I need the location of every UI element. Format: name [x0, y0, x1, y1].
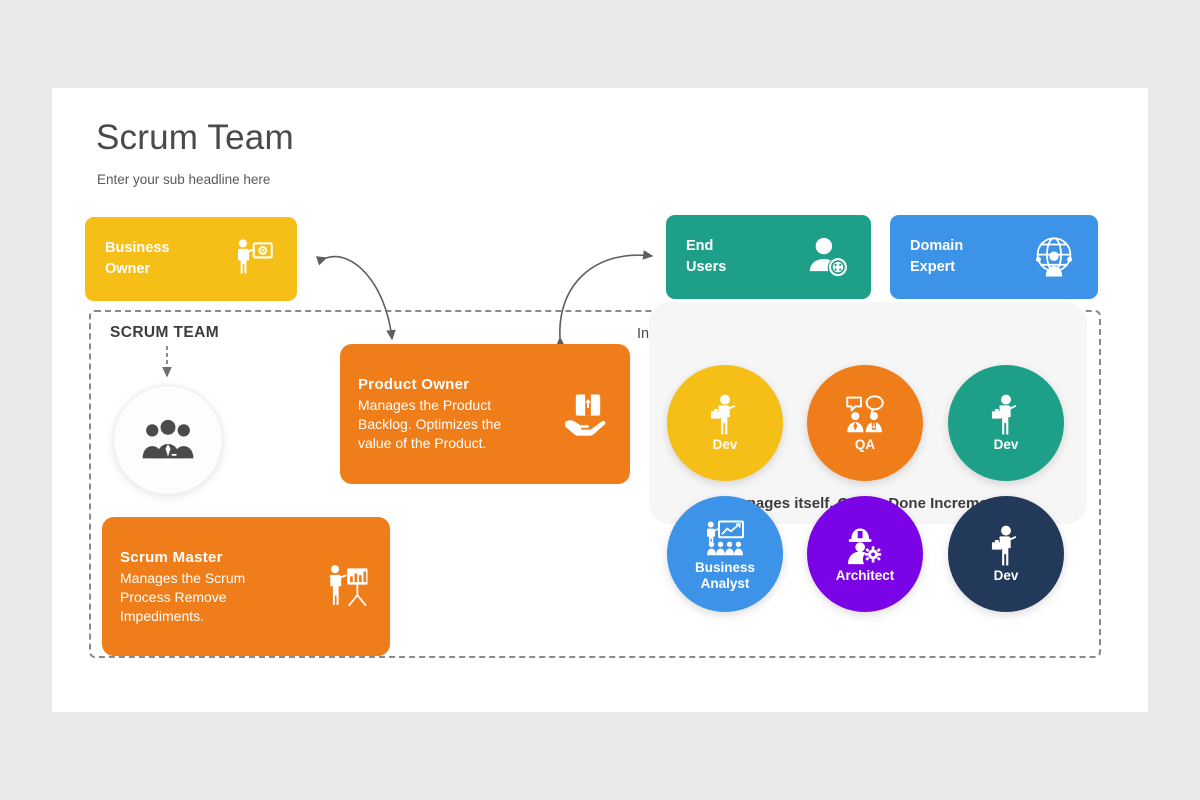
helmet-person-gear-icon	[844, 525, 886, 567]
stakeholder-domain-expert[interactable]: Domain Expert	[890, 215, 1098, 299]
team-member-label: Dev	[713, 437, 738, 453]
role-title: Product Owner	[358, 375, 538, 395]
stakeholder-business-owner[interactable]: Business Owner	[85, 217, 297, 301]
role-card-product-owner[interactable]: Product Owner Manages the Product Backlo…	[340, 344, 630, 484]
presenter-chart-easel-icon	[322, 561, 374, 613]
team-member-label: Architect	[836, 568, 895, 584]
role-description: Manages the Scrum Process Remove Impedim…	[120, 569, 300, 626]
slide-canvas: Scrum Team Enter your sub headline here …	[52, 88, 1148, 712]
presenter-audience-icon	[704, 517, 746, 559]
team-member-dev-2[interactable]: Dev	[948, 365, 1064, 481]
role-text: Product Owner Manages the Product Backlo…	[358, 375, 538, 453]
team-member-architect[interactable]: Architect	[807, 496, 923, 612]
role-title: Scrum Master	[120, 548, 300, 568]
team-member-business-analyst[interactable]: Business Analyst	[667, 496, 783, 612]
person-briefcase-icon	[985, 394, 1027, 436]
globe-person-icon	[1028, 231, 1080, 283]
role-description: Manages the Product Backlog. Optimizes t…	[358, 396, 538, 453]
presenter-gear-board-icon	[227, 233, 279, 285]
stakeholder-label: Business Owner	[105, 238, 169, 280]
role-text: Scrum Master Manages the Scrum Process R…	[120, 548, 300, 626]
stakeholder-label: End Users	[686, 236, 726, 278]
stakeholder-label: Domain Expert	[910, 236, 963, 278]
scrum-team-label: SCRUM TEAM	[110, 324, 219, 342]
team-member-label: Business Analyst	[695, 560, 755, 591]
page-subtitle: Enter your sub headline here	[97, 172, 270, 187]
three-people-group-icon	[140, 419, 196, 461]
team-member-dev-3[interactable]: Dev	[948, 496, 1064, 612]
page-title: Scrum Team	[96, 118, 294, 158]
person-briefcase-icon	[704, 394, 746, 436]
team-member-dev-1[interactable]: Dev	[667, 365, 783, 481]
user-settings-icon	[801, 231, 853, 283]
person-briefcase-icon	[985, 525, 1027, 567]
two-people-chat-icon	[844, 394, 886, 436]
team-member-label: Dev	[994, 568, 1019, 584]
team-member-label: Dev	[994, 437, 1019, 453]
team-member-qa[interactable]: QA	[807, 365, 923, 481]
hand-holding-box-icon	[562, 388, 614, 440]
role-card-scrum-master[interactable]: Scrum Master Manages the Scrum Process R…	[102, 517, 390, 656]
stakeholder-end-users[interactable]: End Users	[666, 215, 871, 299]
scrum-team-avatar-circle	[113, 385, 223, 495]
team-member-label: QA	[855, 437, 875, 453]
